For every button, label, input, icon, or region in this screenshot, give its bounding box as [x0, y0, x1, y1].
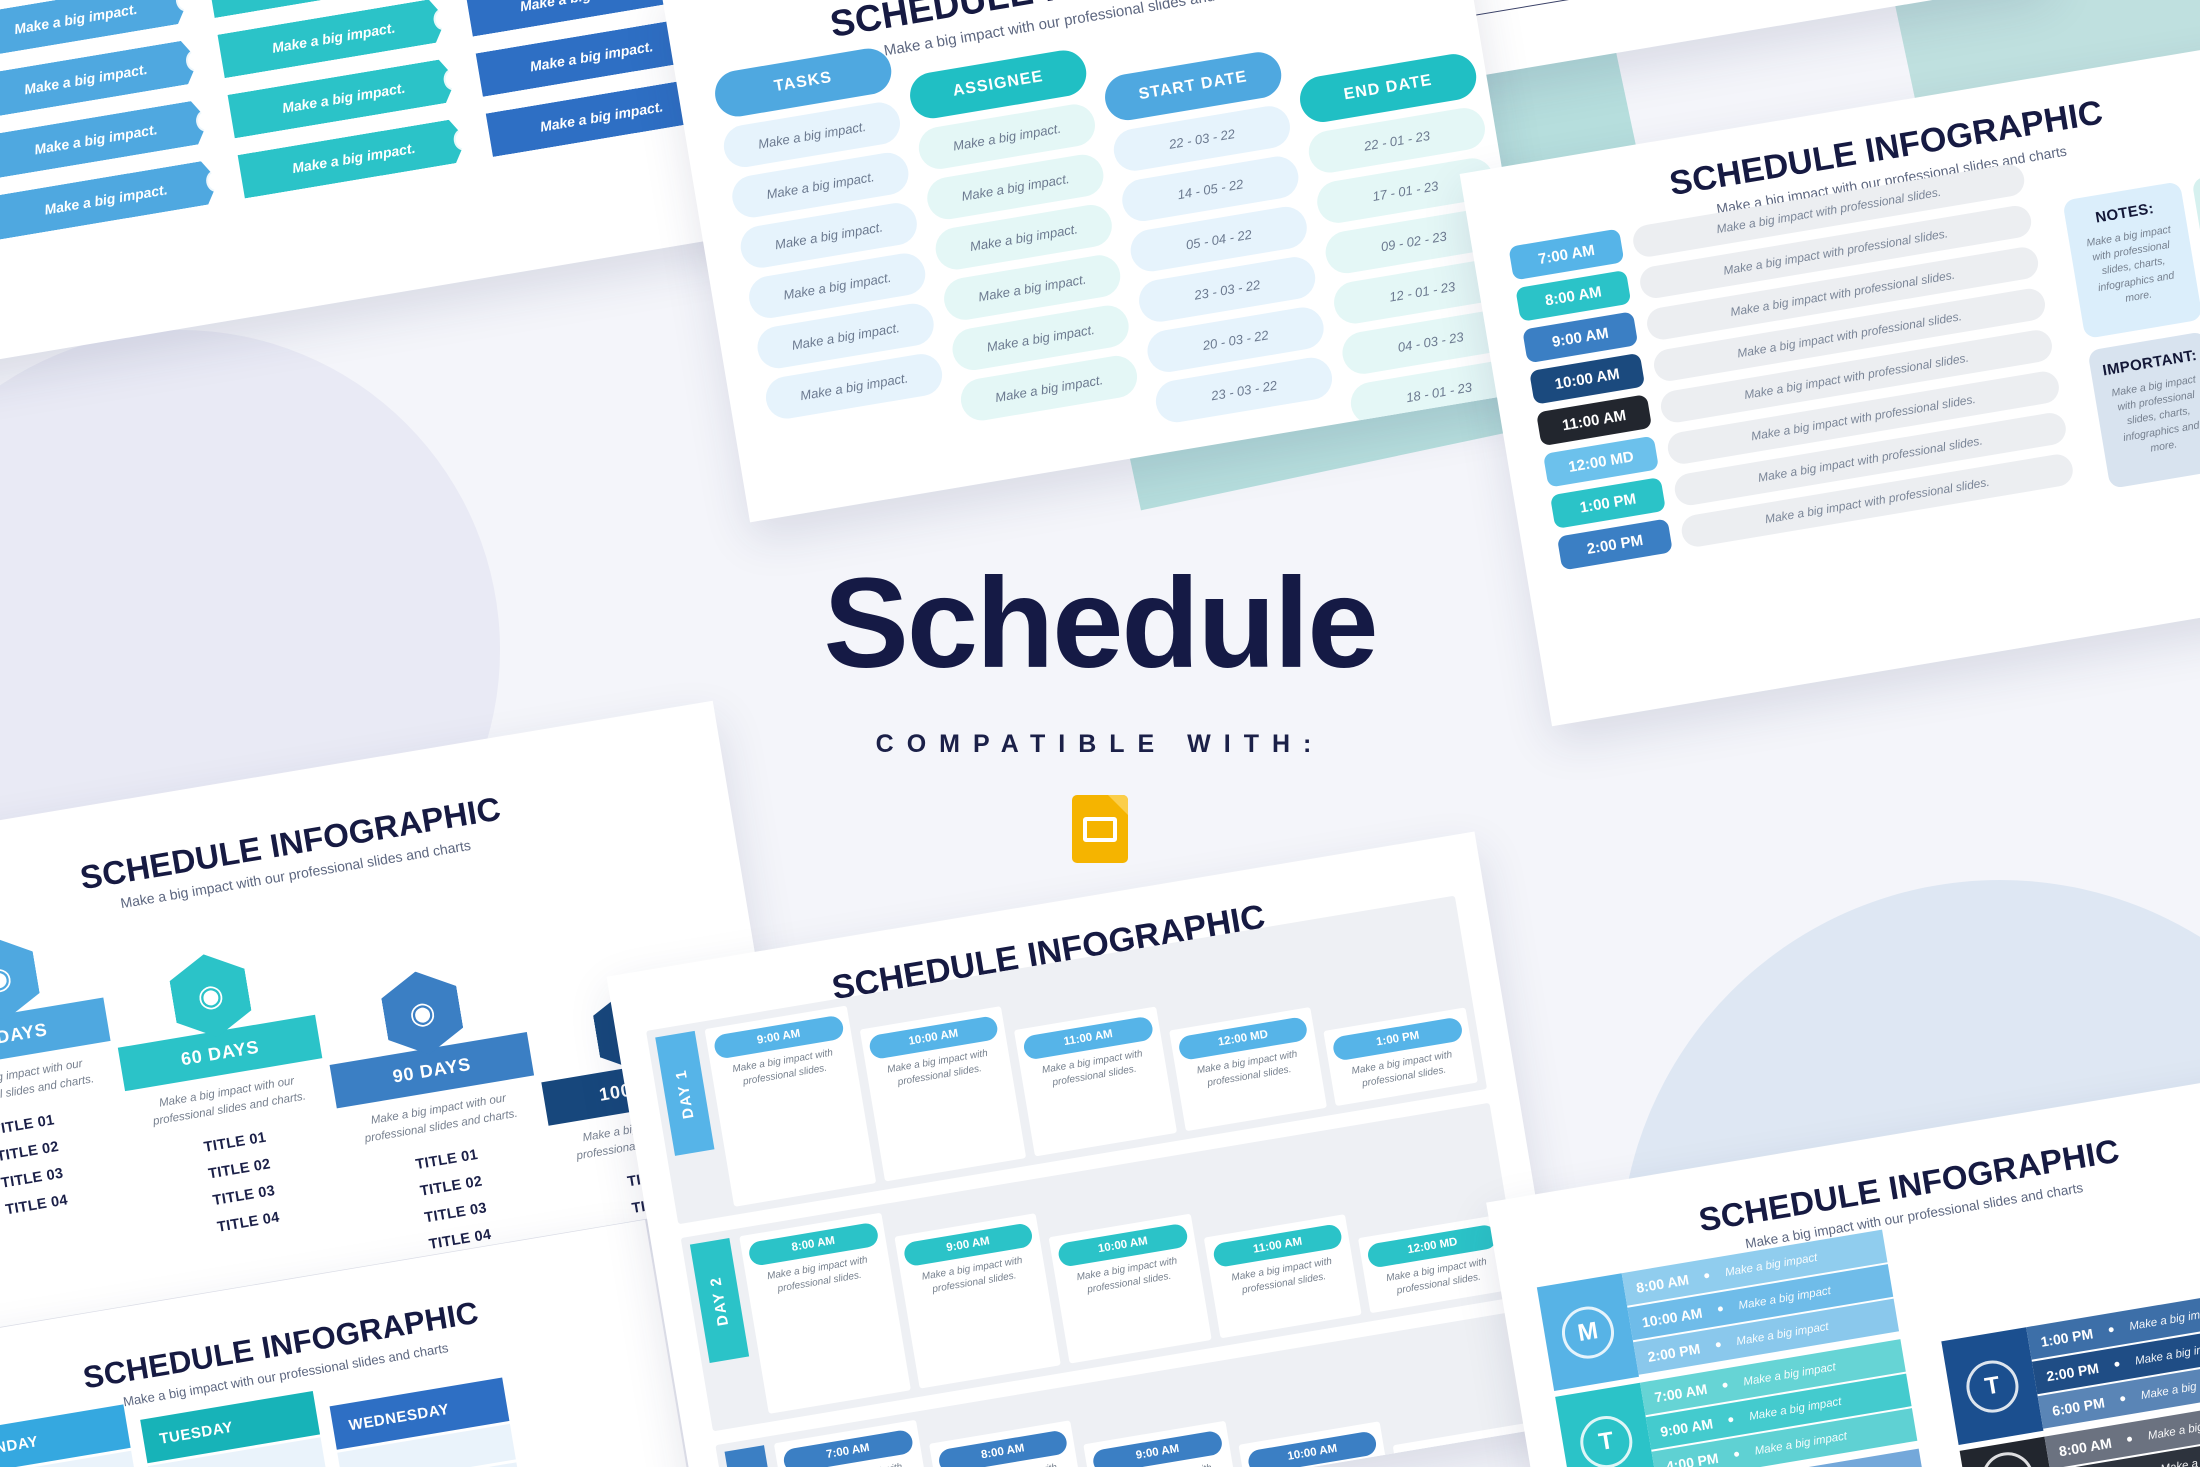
days-flow-rows: GYM◈COACHING◈WORK◈MONDAYMake a big impac… [0, 0, 743, 292]
letter-row-text: Make a big impact [1754, 1430, 1848, 1457]
day-tag-label: DAY 2 [707, 1274, 732, 1326]
gap [462, 75, 479, 78]
letter-row-text: Make a big impact [1742, 1361, 1836, 1388]
grid-cell-text: Make a big impact with professional slid… [1452, 0, 1612, 1]
letter-column-right: T1:00 PMMake a big impact2:00 PMMake a b… [1941, 1284, 2200, 1467]
bullet-dot [1728, 1417, 1734, 1423]
time-slot-pill: 11:00 AM [1401, 1431, 1533, 1467]
milestone-title-list: TITLE 01TITLE 02TITLE 03TITLE 04 [0, 1101, 137, 1230]
letter-row-time: 4:00 PM [1665, 1449, 1720, 1467]
time-slot: 1:00 PMMake a big impact with profession… [1324, 1007, 1478, 1106]
time-slot: 11:00 AMMake a big impact with professio… [1204, 1214, 1362, 1338]
day-tag: DAY 1 [655, 1031, 714, 1156]
letter-row-time: 6:00 PM [2051, 1394, 2106, 1419]
week-column: WEDNESDAY [330, 1378, 536, 1467]
letter-row-time: 2:00 PM [1646, 1340, 1701, 1365]
bullet-dot [2108, 1327, 2114, 1333]
compatible-with-label: COMPATIBLE WITH: [0, 730, 2200, 759]
letter-row-text: Make a big impact [1738, 1285, 1832, 1312]
time-slot: 10:00 AMMake a big impact with professio… [1049, 1214, 1212, 1364]
google-slides-fold [1108, 795, 1128, 815]
gap [224, 177, 241, 180]
day-tag: DAY 2 [690, 1238, 749, 1363]
note-card-body: Make a big impact with professional slid… [2104, 371, 2200, 462]
gap [472, 135, 489, 138]
letter-rows: 1:00 PMMake a big impact2:00 PMMake a bi… [2026, 1284, 2200, 1431]
gap [452, 15, 469, 18]
letter-row-time: 2:00 PM [2045, 1359, 2100, 1384]
letter-row-time: 8:00 AM [1635, 1271, 1690, 1296]
note-card-body: Make a big impact with professional slid… [2079, 221, 2189, 312]
gap [204, 56, 221, 59]
letter-row-text: Make a big impact [1748, 1395, 1842, 1422]
google-slides-icon [1072, 795, 1128, 863]
letter-row-text: Make a big impact [1735, 1320, 1829, 1347]
letter-row-time: 9:00 AM [1659, 1415, 1714, 1440]
time-slot: 11:00 AMMake a big impact with professio… [1014, 1006, 1177, 1156]
time-slot: 9:00 AMMake a big impact with profession… [894, 1213, 1061, 1389]
bullet-dot [2127, 1436, 2133, 1442]
day-letter-f: F [1978, 1448, 2038, 1467]
letter-row-text: Make a big impact [1724, 1251, 1818, 1278]
google-slides-doc-shape [1072, 795, 1128, 863]
letter-row-time: 1:00 PM [2039, 1325, 2094, 1350]
poster-stage: Make a big impact with professional slid… [0, 0, 2200, 1467]
letter-row-text: Make a big impact [2128, 1305, 2200, 1332]
time-slot: 10:00 AMMake a big impact with professio… [1238, 1421, 1396, 1467]
letter-row-time: 7:00 AM [1653, 1380, 1708, 1405]
time-slot-pill: 10:00 AM [1246, 1430, 1378, 1467]
bullet-dot [1717, 1306, 1723, 1312]
note-card: NOTES:Make a big impact with professiona… [2062, 181, 2200, 339]
letter-row-text: Make a big impact [2140, 1374, 2200, 1401]
time-slot: 12:00 MDMake a big impact with professio… [1358, 1215, 1512, 1314]
time-slot-text: Make a big impact with professional slid… [1406, 1460, 1538, 1467]
letter-row-text: Make a big impact [2160, 1448, 2200, 1467]
time-slot: 10:00 AMMake a big impact with professio… [859, 1006, 1026, 1182]
bullet-dot [1704, 1273, 1710, 1279]
day-letter-t: T [1962, 1356, 2022, 1416]
slide-day-grid[interactable]: SCHEDULE INFOGRAPHIC Make a big impact w… [607, 831, 1574, 1467]
google-slides-inner-slide [1083, 817, 1117, 842]
day-letter-m: M [1558, 1302, 1618, 1362]
day-letter-t: T [1576, 1412, 1636, 1467]
letter-row-text: Make a big impact [2147, 1415, 2200, 1442]
page-title: Schedule [0, 560, 2200, 688]
bullet-dot [2120, 1396, 2126, 1402]
bullet-dot [1734, 1451, 1740, 1457]
note-card: IMPORTANT:Make a big impact with profess… [2087, 331, 2200, 489]
note-cards: NOTES:Make a big impact with professiona… [2062, 160, 2200, 489]
hero-block: Schedule COMPATIBLE WITH: [0, 560, 2200, 863]
time-slot: 9:00 AMMake a big impact with profession… [1083, 1421, 1246, 1467]
gap [214, 117, 231, 120]
letter-row-time: 10:00 AM [1641, 1304, 1704, 1330]
time-slot: 9:00 AMMake a big impact with profession… [705, 1006, 876, 1207]
bullet-dot [2114, 1361, 2120, 1367]
time-slot: 12:00 MDMake a big impact with professio… [1169, 1007, 1327, 1131]
time-slot: 8:00 AMMake a big impact with profession… [929, 1420, 1096, 1467]
week-column: TUESDAY [140, 1391, 349, 1467]
time-slot: 8:00 AMMake a big impact with profession… [739, 1213, 910, 1414]
bullet-dot [1722, 1382, 1728, 1388]
bullet-dot [1715, 1342, 1721, 1348]
day-tag-label: DAY 1 [672, 1067, 697, 1119]
letter-row-time: 8:00 AM [2058, 1434, 2113, 1459]
letter-row-text: Make a big impact [2134, 1340, 2200, 1367]
time-slot: 7:00 AMMake a big impact with profession… [774, 1420, 945, 1467]
time-slot-pill: 9:00 AM [1092, 1430, 1224, 1467]
